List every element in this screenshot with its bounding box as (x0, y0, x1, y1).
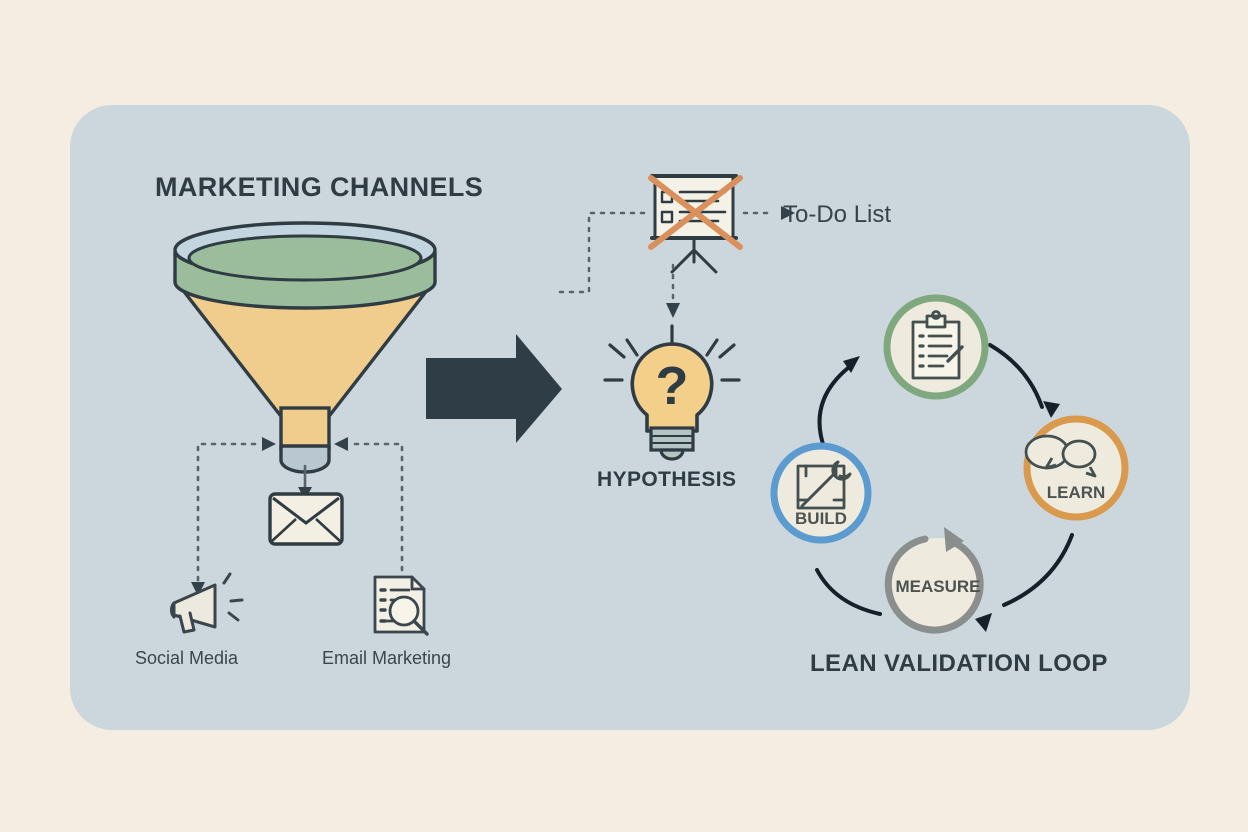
loop-node-build[interactable]: BUILD (0, 0, 1248, 832)
loop-label-build: BUILD (795, 509, 847, 528)
diagram-canvas: MARKETING CHANNELS HYPOTHESIS LEAN VALID… (0, 0, 1248, 832)
